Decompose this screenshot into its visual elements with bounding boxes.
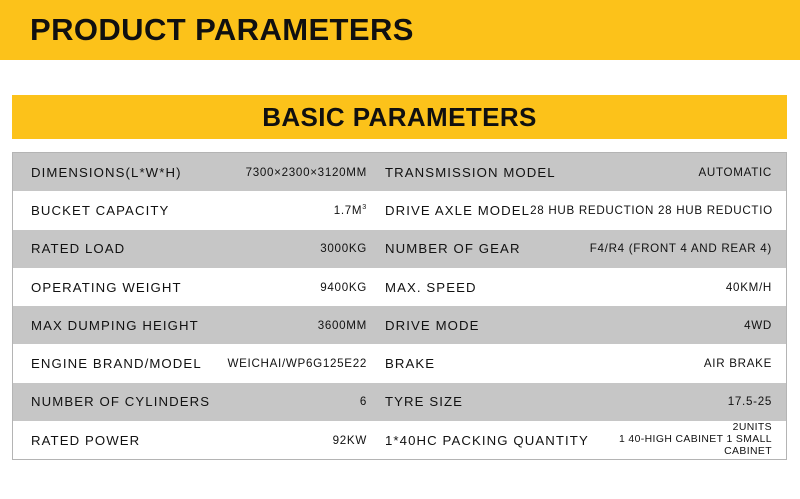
parameter-cell: DIMENSIONS(L*W*H) 7300×2300×3120MM (13, 153, 375, 191)
parameter-value: 3600MM (199, 319, 367, 332)
parameter-value: 3000KG (125, 242, 367, 255)
parameter-label: MAX. SPEED (385, 280, 477, 295)
parameter-label: RATED POWER (31, 433, 140, 448)
parameter-cell: RATED POWER 92KW (13, 421, 375, 459)
section-header-banner: BASIC PARAMETERS (12, 95, 787, 139)
parameter-value-line-1: 2UNITS (589, 422, 772, 434)
table-row: MAX DUMPING HEIGHT 3600MM DRIVE MODE 4WD (13, 306, 786, 344)
parameter-value: AUTOMATIC (556, 166, 772, 179)
parameter-label: BUCKET CAPACITY (31, 203, 169, 218)
parameter-label: RATED LOAD (31, 241, 125, 256)
parameter-label: OPERATING WEIGHT (31, 280, 182, 295)
parameter-label: DRIVE AXLE MODEL (385, 203, 530, 218)
table-row: RATED LOAD 3000KG NUMBER OF GEAR F4/R4 (… (13, 230, 786, 268)
parameter-value: 9400KG (182, 281, 367, 294)
table-row: BUCKET CAPACITY 1.7M3 DRIVE AXLE MODEL 2… (13, 191, 786, 229)
parameter-label: NUMBER OF GEAR (385, 241, 521, 256)
parameter-value: F4/R4 (FRONT 4 AND REAR 4) (521, 242, 772, 255)
parameter-value: 6 (210, 395, 367, 408)
parameter-cell: NUMBER OF GEAR F4/R4 (FRONT 4 AND REAR 4… (375, 230, 786, 268)
parameter-cell: TYRE SIZE 17.5-25 (375, 383, 786, 421)
page-header-banner: PRODUCT PARAMETERS (0, 0, 800, 60)
parameter-value: 1.7M3 (169, 204, 367, 217)
parameter-value: AIR BRAKE (435, 357, 772, 370)
parameter-value: 4WD (480, 319, 772, 332)
parameter-label: 1*40HC PACKING QUANTITY (385, 433, 589, 448)
parameter-label: MAX DUMPING HEIGHT (31, 318, 199, 333)
table-row: ENGINE BRAND/MODEL WEICHAI/WP6G125E22 BR… (13, 344, 786, 382)
parameter-cell: 1*40HC PACKING QUANTITY 2UNITS 1 40-HIGH… (375, 421, 786, 459)
parameter-cell: DRIVE AXLE MODEL 28 HUB REDUCTION 28 HUB… (375, 191, 786, 229)
parameters-table: DIMENSIONS(L*W*H) 7300×2300×3120MM TRANS… (12, 152, 787, 460)
parameter-value: 92KW (140, 434, 367, 447)
parameter-cell: MAX. SPEED 40KM/H (375, 268, 786, 306)
parameter-cell: OPERATING WEIGHT 9400KG (13, 268, 375, 306)
parameter-value: 40KM/H (477, 281, 772, 294)
parameter-label: BRAKE (385, 356, 435, 371)
product-parameters-page: PRODUCT PARAMETERS BASIC PARAMETERS DIME… (0, 0, 800, 499)
parameter-cell: RATED LOAD 3000KG (13, 230, 375, 268)
parameter-cell: TRANSMISSION MODEL AUTOMATIC (375, 153, 786, 191)
parameter-label: DIMENSIONS(L*W*H) (31, 165, 182, 180)
table-row: NUMBER OF CYLINDERS 6 TYRE SIZE 17.5-25 (13, 383, 786, 421)
parameter-cell: DRIVE MODE 4WD (375, 306, 786, 344)
parameter-label: NUMBER OF CYLINDERS (31, 394, 210, 409)
parameter-value-line-2: 1 40-HIGH CABINET 1 SMALL CABINET (589, 434, 772, 459)
parameter-value: 7300×2300×3120MM (182, 166, 367, 179)
parameter-cell: BUCKET CAPACITY 1.7M3 (13, 191, 375, 229)
parameter-cell: NUMBER OF CYLINDERS 6 (13, 383, 375, 421)
parameter-value: 17.5-25 (463, 395, 772, 408)
parameter-cell: MAX DUMPING HEIGHT 3600MM (13, 306, 375, 344)
parameter-cell: ENGINE BRAND/MODEL WEICHAI/WP6G125E22 (13, 344, 375, 382)
section-title: BASIC PARAMETERS (262, 102, 537, 133)
parameter-label: TYRE SIZE (385, 394, 463, 409)
table-row: DIMENSIONS(L*W*H) 7300×2300×3120MM TRANS… (13, 153, 786, 191)
parameter-label: TRANSMISSION MODEL (385, 165, 556, 180)
parameter-value: WEICHAI/WP6G125E22 (202, 357, 367, 370)
table-row: OPERATING WEIGHT 9400KG MAX. SPEED 40KM/… (13, 268, 786, 306)
parameter-cell: BRAKE AIR BRAKE (375, 344, 786, 382)
parameter-label: ENGINE BRAND/MODEL (31, 356, 202, 371)
page-title: PRODUCT PARAMETERS (30, 12, 414, 48)
parameter-value: 28 HUB REDUCTION 28 HUB REDUCTION (530, 204, 772, 217)
table-row: RATED POWER 92KW 1*40HC PACKING QUANTITY… (13, 421, 786, 459)
parameter-label: DRIVE MODE (385, 318, 480, 333)
parameter-value: 2UNITS 1 40-HIGH CABINET 1 SMALL CABINET (589, 422, 772, 459)
